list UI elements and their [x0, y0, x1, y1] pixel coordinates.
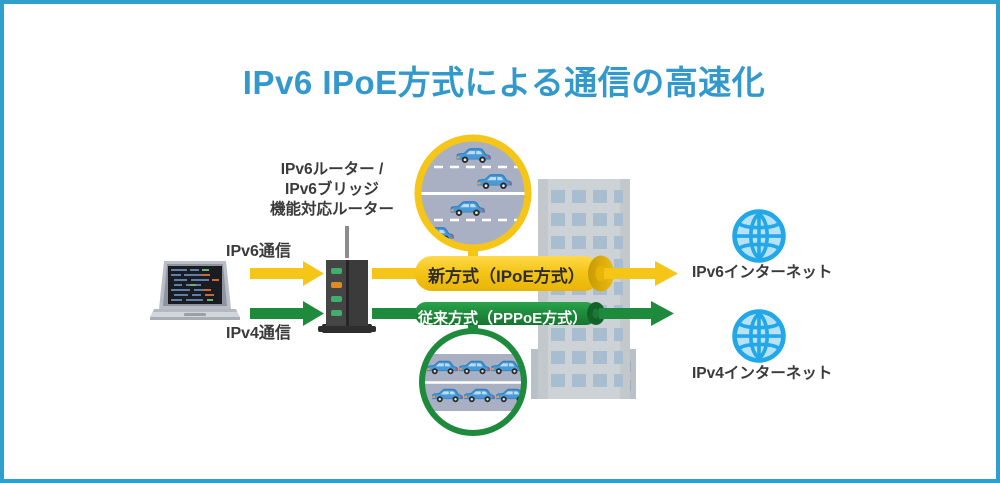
road-scene-congested [422, 331, 527, 433]
globe-icon-ipv4 [733, 310, 786, 363]
arrow-ipv4-communication [250, 301, 324, 326]
router-label-line-2: IPv6ブリッジ [252, 180, 412, 200]
page-title: IPv6 IPoE方式による通信の高速化 [4, 56, 1000, 104]
arrow-ipv6-communication [250, 261, 324, 286]
label-ipv6-communication: IPv6通信 [226, 242, 291, 262]
label-ipv6-internet: IPv6インターネット [692, 263, 832, 283]
router-label-connector [345, 226, 349, 258]
road-scene-free-flow [418, 138, 528, 248]
laptop-device [150, 261, 240, 320]
router-device [318, 260, 376, 333]
globe-icon-ipv6 [733, 210, 786, 263]
router-label-line-1: IPv6ルーター / [252, 160, 412, 180]
pipe-ipoe [372, 256, 678, 292]
label-ipv4-internet: IPv4インターネット [692, 364, 832, 384]
router-label-line-3: 機能対応ルーター [252, 200, 412, 220]
diagram-frame: IPv6 IPoE方式による通信の高速化 IPv6ルーター / IPv6ブリッジ… [0, 0, 1000, 483]
router-label: IPv6ルーター / IPv6ブリッジ 機能対応ルーター [252, 160, 412, 219]
label-ipv4-communication: IPv4通信 [226, 324, 291, 344]
